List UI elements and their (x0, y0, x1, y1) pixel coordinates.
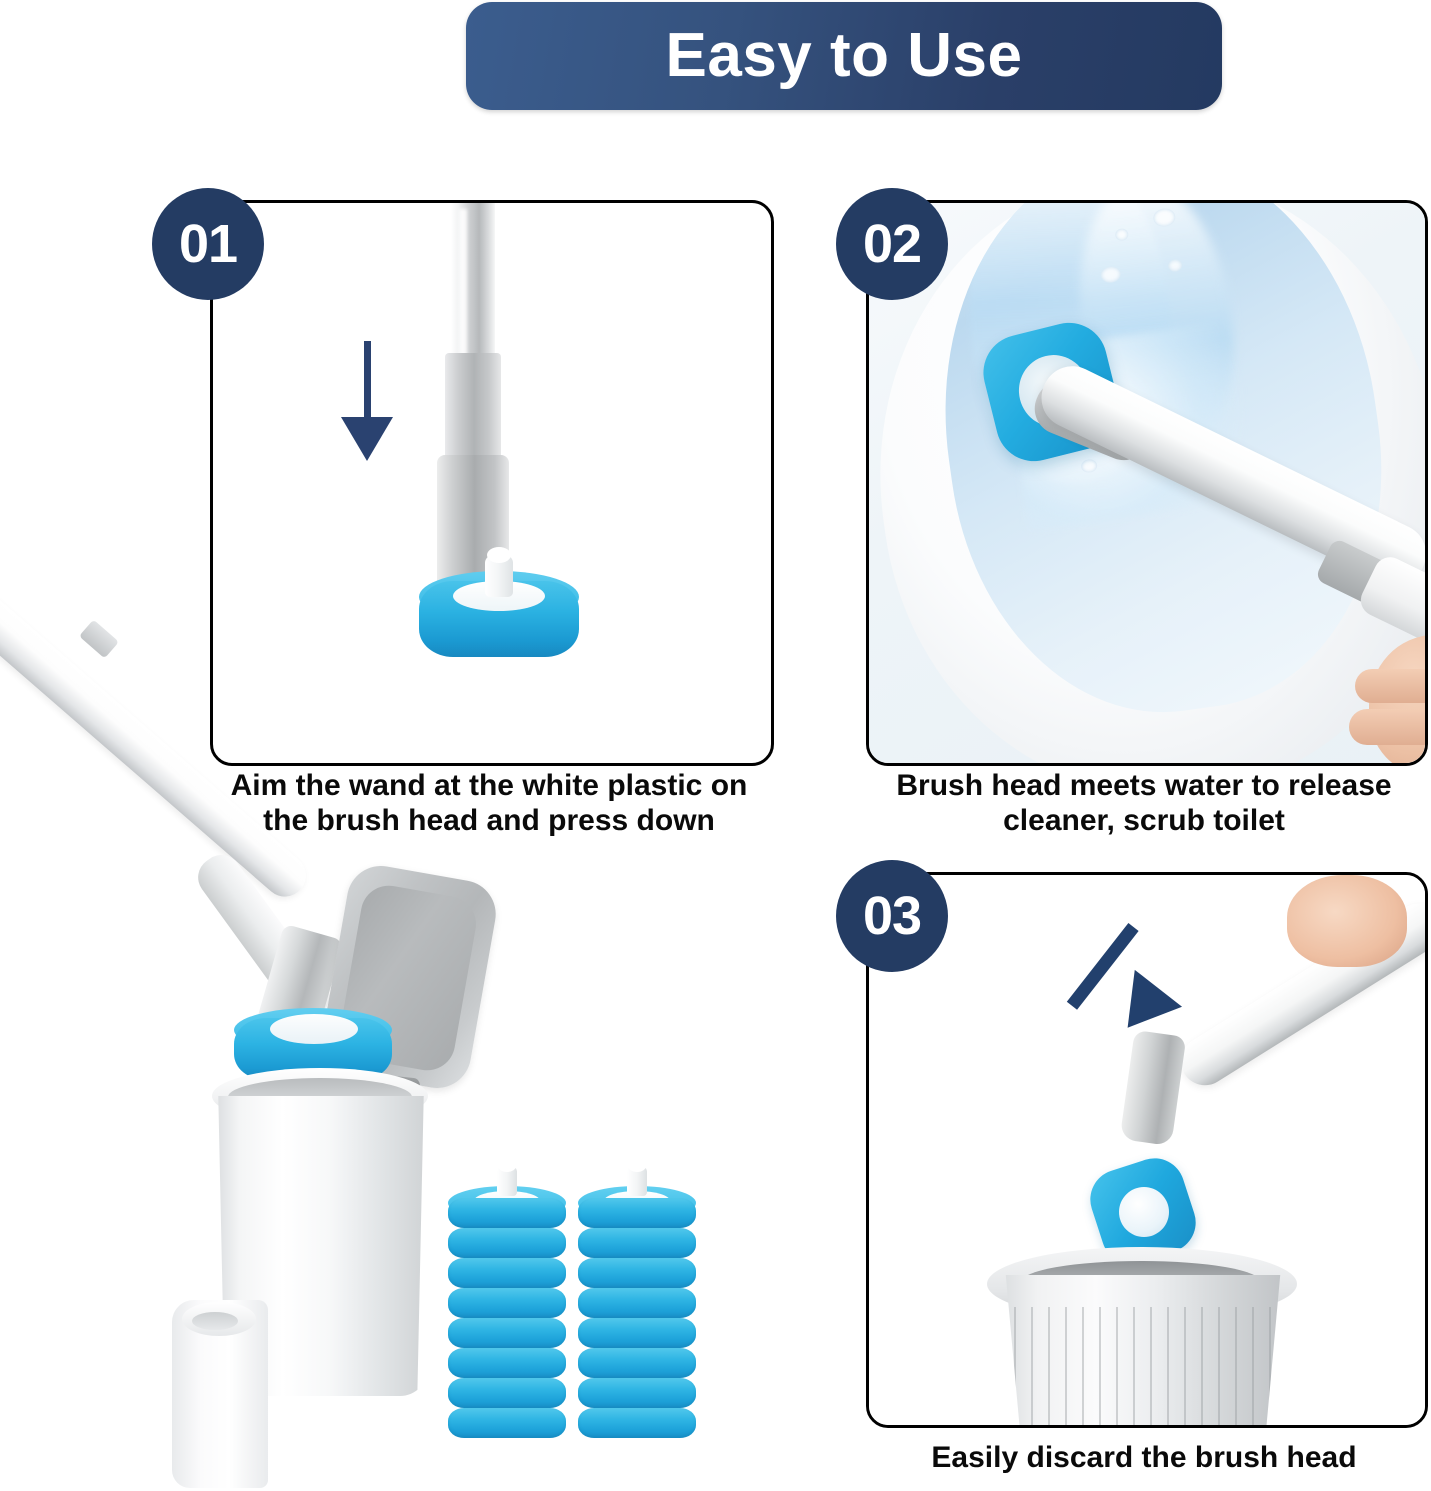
handle-clip (79, 620, 119, 659)
step-badge-03: 03 (836, 860, 948, 972)
step-panel-03 (866, 872, 1428, 1428)
refill-pad (448, 1408, 566, 1438)
refill-pad (448, 1378, 566, 1408)
refill-pad (578, 1228, 696, 1258)
step-panel-01 (210, 200, 774, 766)
refill-pad-nub-cap (498, 1160, 516, 1172)
finger (1349, 709, 1428, 745)
refill-pad (448, 1318, 566, 1348)
step-caption-02: Brush head meets water to release cleane… (866, 768, 1422, 839)
caddy-pocket-slot (192, 1312, 238, 1330)
step-caption-03: Easily discard the brush head (866, 1440, 1422, 1475)
refill-pad (448, 1288, 566, 1318)
sponge-refill-nub-cap (487, 547, 511, 563)
discarded-brush-head-center (1119, 1187, 1169, 1237)
refill-pad (578, 1198, 696, 1228)
step-badge-02: 02 (836, 188, 948, 300)
refill-pad (448, 1198, 566, 1228)
refill-pad (578, 1258, 696, 1288)
hand (1287, 875, 1407, 967)
step-badge-01: 01 (152, 188, 264, 300)
refill-pad-nub-cap (628, 1160, 646, 1172)
step-panel-02 (866, 200, 1428, 766)
down-arrow-head-icon (341, 417, 393, 461)
refill-pad (578, 1348, 696, 1378)
page-title: Easy to Use (665, 25, 1022, 87)
refill-pad (578, 1318, 696, 1348)
refill-pad (578, 1378, 696, 1408)
refill-pad (578, 1408, 696, 1438)
down-arrow-shaft-icon (364, 341, 371, 425)
trash-can-ribs (997, 1307, 1289, 1428)
refill-pad (448, 1348, 566, 1378)
hero-sponge-disc (270, 1014, 358, 1044)
step-caption-01: Aim the wand at the white plastic on the… (204, 768, 774, 839)
refill-pad (448, 1228, 566, 1258)
refill-pad (578, 1288, 696, 1318)
header-banner: Easy to Use (466, 2, 1222, 110)
finger (1355, 669, 1428, 703)
refill-pad (448, 1258, 566, 1288)
